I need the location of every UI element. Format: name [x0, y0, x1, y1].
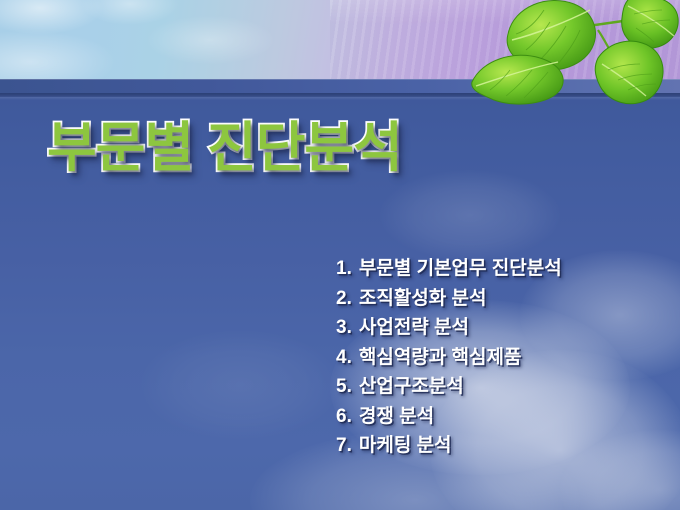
list-item-label: 부문별 기본업무 진단분석: [359, 254, 562, 284]
list-item-label: 조직활성화 분석: [359, 284, 487, 314]
slide-title: 부문별 진단분석: [47, 120, 402, 177]
list-item-number: 3.: [336, 313, 352, 343]
leaf-shape: [472, 55, 563, 104]
list-item-label: 산업구조분석: [359, 372, 464, 402]
list-item-label: 경쟁 분석: [359, 402, 434, 432]
list-item[interactable]: 6. 경쟁 분석: [336, 402, 666, 432]
list-item-number: 7.: [336, 431, 352, 461]
leaf-decoration: [470, 0, 680, 107]
list-item-label: 사업전략 분석: [359, 313, 469, 343]
leaf-shape: [595, 41, 663, 104]
presentation-slide: 부문별 진단분석 1. 부문별 기본업무 진단분석 2. 조직활성화 분석 3.…: [0, 0, 680, 510]
list-item[interactable]: 2. 조직활성화 분석: [336, 284, 666, 314]
list-item-number: 6.: [336, 402, 352, 432]
cloud-shape: [140, 330, 340, 440]
agenda-list: 1. 부문별 기본업무 진단분석 2. 조직활성화 분석 3. 사업전략 분석 …: [336, 254, 666, 461]
list-item-label: 핵심역량과 핵심제품: [359, 343, 522, 373]
banner-sky-clouds: [0, 0, 360, 79]
list-item-number: 4.: [336, 343, 352, 373]
list-item[interactable]: 4. 핵심역량과 핵심제품: [336, 343, 666, 373]
list-item[interactable]: 1. 부문별 기본업무 진단분석: [336, 254, 666, 284]
cloud-shape: [380, 170, 560, 260]
list-item[interactable]: 7. 마케팅 분석: [336, 431, 666, 461]
list-item-number: 1.: [336, 254, 352, 284]
list-item-number: 2.: [336, 284, 352, 314]
list-item[interactable]: 5. 산업구조분석: [336, 372, 666, 402]
list-item[interactable]: 3. 사업전략 분석: [336, 313, 666, 343]
list-item-label: 마케팅 분석: [359, 431, 452, 461]
list-item-number: 5.: [336, 372, 352, 402]
